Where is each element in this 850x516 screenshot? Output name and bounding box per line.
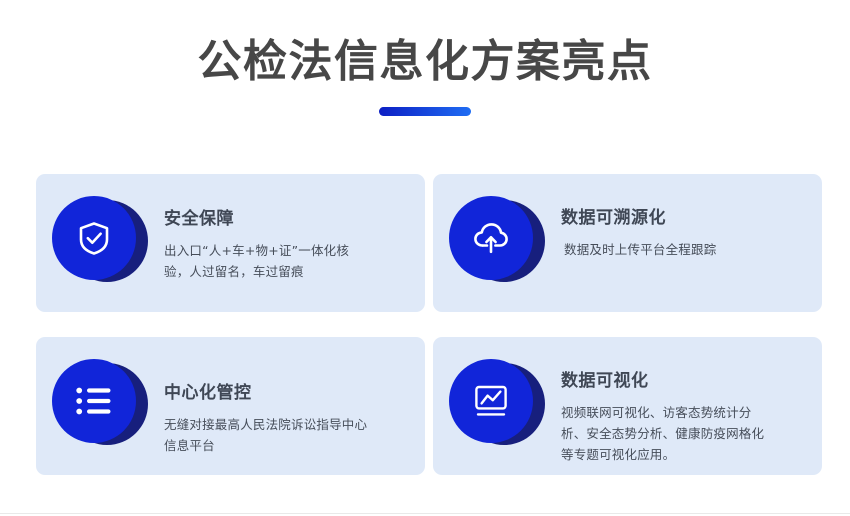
page-title: 公检法信息化方案亮点 <box>0 34 850 90</box>
card-title: 中心化管控 <box>164 382 411 404</box>
shield-check-icon <box>74 218 114 258</box>
card-text-block: 数据可溯源化 数据及时上传平台全程跟踪 <box>545 174 822 260</box>
card-icon-badge <box>52 359 148 455</box>
list-bullets-icon <box>73 384 115 418</box>
highlight-card-grid: 安全保障 出入口“人+车+物+证”一体化核验，人过留名，车过留痕 <box>36 174 822 475</box>
card-description: 数据及时上传平台全程跟踪 <box>561 239 808 260</box>
highlight-card[interactable]: 数据可视化 视频联网可视化、访客态势统计分析、安全态势分析、健康防疫网格化等专题… <box>433 337 822 475</box>
card-title: 安全保障 <box>164 208 411 230</box>
card-text-block: 安全保障 出入口“人+车+物+证”一体化核验，人过留名，车过留痕 <box>148 174 425 282</box>
highlight-card[interactable]: 数据可溯源化 数据及时上传平台全程跟踪 <box>433 174 822 312</box>
card-text-block: 数据可视化 视频联网可视化、访客态势统计分析、安全态势分析、健康防疫网格化等专题… <box>545 337 822 465</box>
title-underline-accent <box>379 107 471 116</box>
card-icon-badge <box>449 196 545 292</box>
icon-badge-circle <box>449 196 533 280</box>
card-description: 出入口“人+车+物+证”一体化核验，人过留名，车过留痕 <box>164 240 374 282</box>
card-description: 视频联网可视化、访客态势统计分析、安全态势分析、健康防疫网格化等专题可视化应用。 <box>561 402 766 465</box>
cloud-upload-icon <box>470 218 512 258</box>
page-bottom-divider <box>0 513 850 514</box>
card-title: 数据可溯源化 <box>561 207 808 229</box>
card-text-block: 中心化管控 无缝对接最高人民法院诉讼指导中心信息平台 <box>148 337 425 456</box>
card-icon-badge <box>449 359 545 455</box>
icon-badge-circle <box>52 359 136 443</box>
highlight-card[interactable]: 安全保障 出入口“人+车+物+证”一体化核验，人过留名，车过留痕 <box>36 174 425 312</box>
icon-badge-circle <box>449 359 533 443</box>
highlight-card[interactable]: 中心化管控 无缝对接最高人民法院诉讼指导中心信息平台 <box>36 337 425 475</box>
chart-monitor-icon <box>470 382 512 420</box>
card-title: 数据可视化 <box>561 370 808 392</box>
highlights-page: 公检法信息化方案亮点 <box>0 0 850 516</box>
card-description: 无缝对接最高人民法院诉讼指导中心信息平台 <box>164 414 374 456</box>
page-header: 公检法信息化方案亮点 <box>0 34 850 116</box>
card-icon-badge <box>52 196 148 292</box>
icon-badge-circle <box>52 196 136 280</box>
